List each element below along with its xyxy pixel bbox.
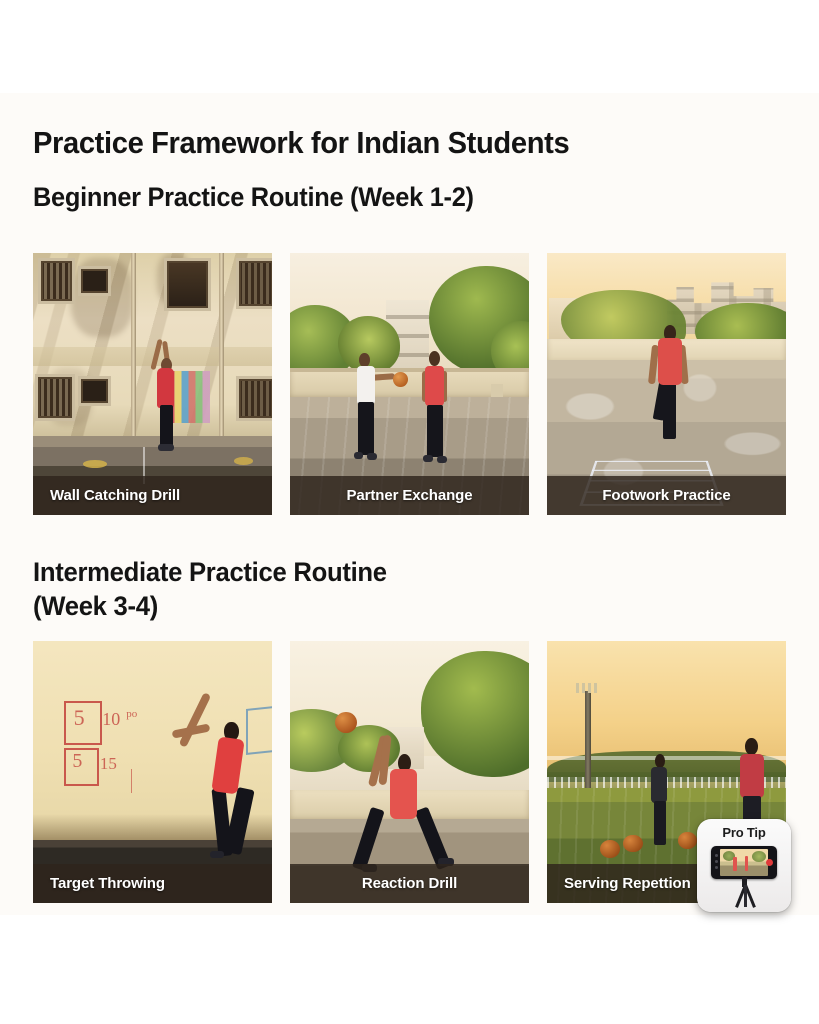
card-footwork-practice[interactable]: Footwork Practice [547,253,786,515]
section-beginner-heading: Beginner Practice Routine (Week 1-2) [33,180,474,214]
intermediate-card-row: 5 10 po 5 15 Target Throwing [33,641,786,903]
wall-mark: po [126,708,137,720]
card-wall-catching-drill[interactable]: Wall Catching Drill [33,253,272,515]
wall-mark: 5 [74,705,85,731]
phone-screen [720,849,768,876]
page-title: Practice Framework for Indian Students [33,124,569,162]
section-intermediate-heading: Intermediate Practice Routine (Week 3-4) [33,555,565,623]
camera-lens-icon [715,854,718,857]
pro-tip-label: Pro Tip [697,825,791,840]
card-partner-exchange[interactable]: Partner Exchange [290,253,529,515]
record-indicator-icon [766,859,773,866]
card-caption: Wall Catching Drill [33,476,272,515]
wall-mark: 5 [72,750,82,773]
section-intermediate-line1: Intermediate Practice Routine [33,557,387,587]
tripod-leg [744,885,747,907]
wall-mark: 10 [102,709,120,730]
card-reaction-drill[interactable]: Reaction Drill [290,641,529,903]
phone-on-tripod-icon [711,846,777,879]
pro-tip-badge[interactable]: Pro Tip [697,819,791,912]
beginner-card-row: Wall Catching Drill Partner Exchange [33,253,786,515]
card-target-throwing[interactable]: 5 10 po 5 15 Target Throwing [33,641,272,903]
card-caption: Footwork Practice [547,476,786,515]
poster-page: Practice Framework for Indian Students B… [0,0,819,1024]
wall-mark: 15 [100,754,117,774]
card-caption: Reaction Drill [290,864,529,903]
card-caption: Partner Exchange [290,476,529,515]
section-intermediate-line2: (Week 3-4) [33,589,565,623]
card-caption: Target Throwing [33,864,272,903]
